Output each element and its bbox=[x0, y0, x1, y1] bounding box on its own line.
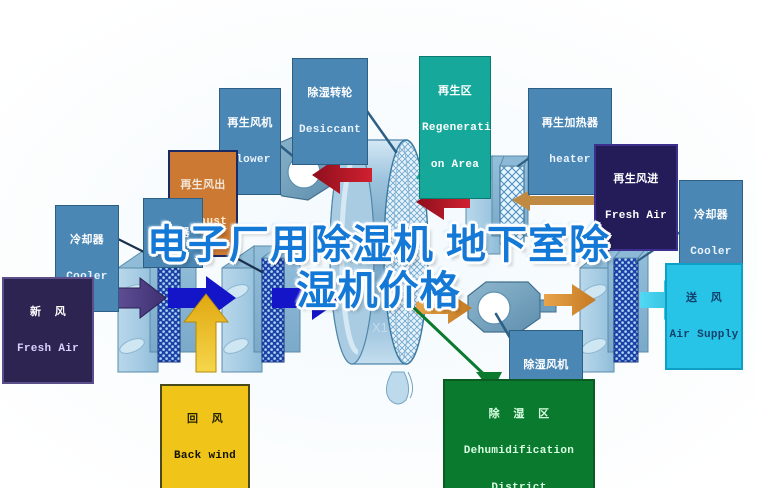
label-back-wind[interactable]: 回 风 Back wind bbox=[160, 384, 250, 488]
watermark-line-1: 电子厂用除湿机 地下室除 bbox=[0, 222, 757, 268]
rotor-watermark-text: X1 bbox=[372, 320, 388, 335]
label-regen-blower-cn: 再生风机 bbox=[222, 117, 278, 129]
label-regen-area-en2: on Area bbox=[422, 159, 488, 171]
label-fresh-air-regen-cn: 再生风进 bbox=[598, 173, 674, 185]
label-dehum-district-cn: 除 湿 区 bbox=[447, 408, 591, 420]
label-dehum-blower-cn: 除湿风机 bbox=[512, 359, 580, 371]
label-dehum-district-en1: Dehumidification bbox=[447, 445, 591, 457]
label-desiccant-cn: 除湿转轮 bbox=[295, 87, 365, 99]
dehumidifier-process-diagram: X1 bbox=[0, 0, 757, 488]
label-exhaust-cn: 再生风出 bbox=[172, 179, 234, 191]
label-desiccant[interactable]: 除湿转轮 Desiccant bbox=[292, 58, 368, 165]
label-back-wind-en: Back wind bbox=[164, 450, 246, 462]
label-regeneration-area[interactable]: 再生区 Regenerati on Area bbox=[419, 56, 491, 199]
label-dehum-district-en2: District bbox=[447, 482, 591, 488]
label-fresh-air-regen-en: Fresh Air bbox=[598, 210, 674, 222]
label-cooler-right-cn: 冷却器 bbox=[682, 209, 740, 221]
label-dehumidification-district[interactable]: 除 湿 区 Dehumidification District bbox=[443, 379, 595, 488]
label-desiccant-en: Desiccant bbox=[295, 124, 365, 136]
watermark-title: 电子厂用除湿机 地下室除 湿机价格 bbox=[0, 222, 757, 314]
label-air-supply-en: Air Supply bbox=[669, 329, 739, 341]
label-regen-area-cn: 再生区 bbox=[422, 85, 488, 97]
watermark-line-2: 湿机价格 bbox=[0, 268, 757, 314]
label-back-wind-cn: 回 风 bbox=[164, 413, 246, 425]
label-fresh-air-en: Fresh Air bbox=[6, 343, 90, 355]
label-heater-cn: 再生加热器 bbox=[531, 117, 609, 129]
label-regen-area-en1: Regenerati bbox=[422, 122, 488, 134]
